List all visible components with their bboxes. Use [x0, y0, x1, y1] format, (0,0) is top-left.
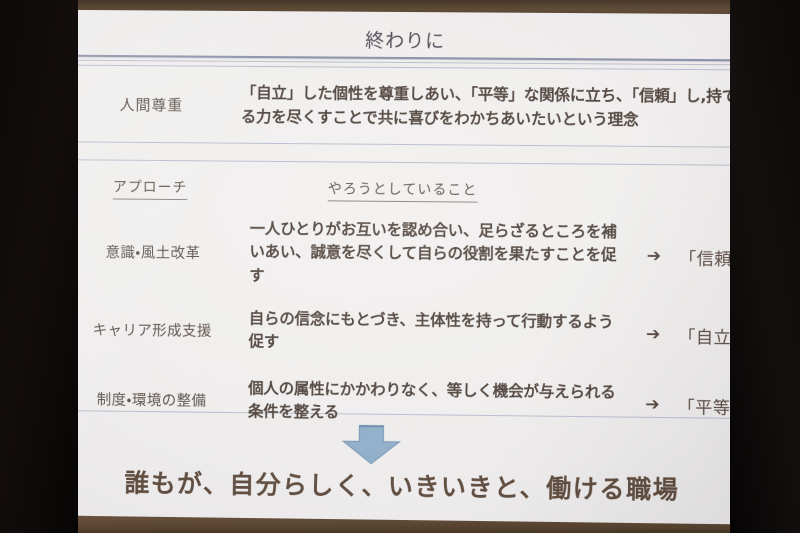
down-arrow-icon [339, 423, 403, 466]
tagline: 誰もが、自分らしく、いきいきと、働ける職場 [44, 463, 762, 508]
right-arrow-icon: ➔ [630, 246, 678, 267]
philosophy-text: 「自立」した個性を尊重しあい、「平等」な関係に立ち、「信頼」し,持てる力を尽くす… [241, 81, 751, 133]
table-row: キャリア形成支援 自らの信念にもとづき、主体性を持って行動するよう促す ➔ 「自… [60, 294, 751, 371]
title-divider [54, 55, 760, 63]
right-arrow-icon: ➔ [628, 395, 676, 416]
slide-canvas: 終わりに 人間尊重 「自立」した個性を尊重しあい、「平等」な関係に立ち、「信頼」… [43, 10, 766, 525]
approach-table-body: 意識・風土改革 一人ひとりがお互いを認め合い、足らざるところを補いあい、誠意を尽… [59, 208, 751, 441]
philosophy-row: 人間尊重 「自立」した個性を尊重しあい、「平等」な関係に立ち、「信頼」し,持てる… [62, 66, 751, 147]
projection-screen: 終わりに 人間尊重 「自立」した個性を尊重しあい、「平等」な関係に立ち、「信頼」… [43, 10, 766, 525]
row-doing-text: 一人ひとりがお互いを認め合い、足らざるところを補いあい、誠意を尽くして自らの役割… [249, 218, 630, 291]
approach-box: アプローチ やろうとしていること 意識・風土改革 一人ひとりがお互いを認め合い、… [58, 159, 750, 419]
philosophy-box: 人間尊重 「自立」した個性を尊重しあい、「平等」な関係に立ち、「信頼」し,持てる… [61, 65, 752, 148]
row-doing-text: 個人の属性にかかわりなく、等しく機会が与えられる条件を整える [248, 377, 629, 428]
table-row: 制度・環境の整備 個人の属性にかかわりなく、等しく機会が与えられる条件を整える … [59, 363, 750, 441]
right-arrow-icon: ➔ [629, 324, 677, 345]
room-wall-right [730, 0, 800, 533]
column-header-approach: アプローチ [113, 177, 188, 201]
projected-slide-photo: 終わりに 人間尊重 「自立」した個性を尊重しあい、「平等」な関係に立ち、「信頼」… [0, 0, 800, 533]
table-row: 意識・風土改革 一人ひとりがお互いを認め合い、足らざるところを補いあい、誠意を尽… [60, 208, 751, 301]
row-approach-label: キャリア形成支援 [60, 318, 249, 341]
column-header-doing: やろうとしていること [328, 178, 478, 202]
row-approach-label: 制度・環境の整備 [59, 388, 248, 411]
philosophy-label: 人間尊重 [62, 93, 241, 115]
row-doing-text: 自らの信念にもとづき、主体性を持って行動するよう促す [248, 307, 629, 357]
slide-title: 終わりに [48, 24, 766, 56]
row-approach-label: 意識・風土改革 [61, 240, 250, 263]
room-wall-left [0, 0, 78, 533]
approach-table-header: アプローチ やろうとしていること [61, 176, 751, 208]
